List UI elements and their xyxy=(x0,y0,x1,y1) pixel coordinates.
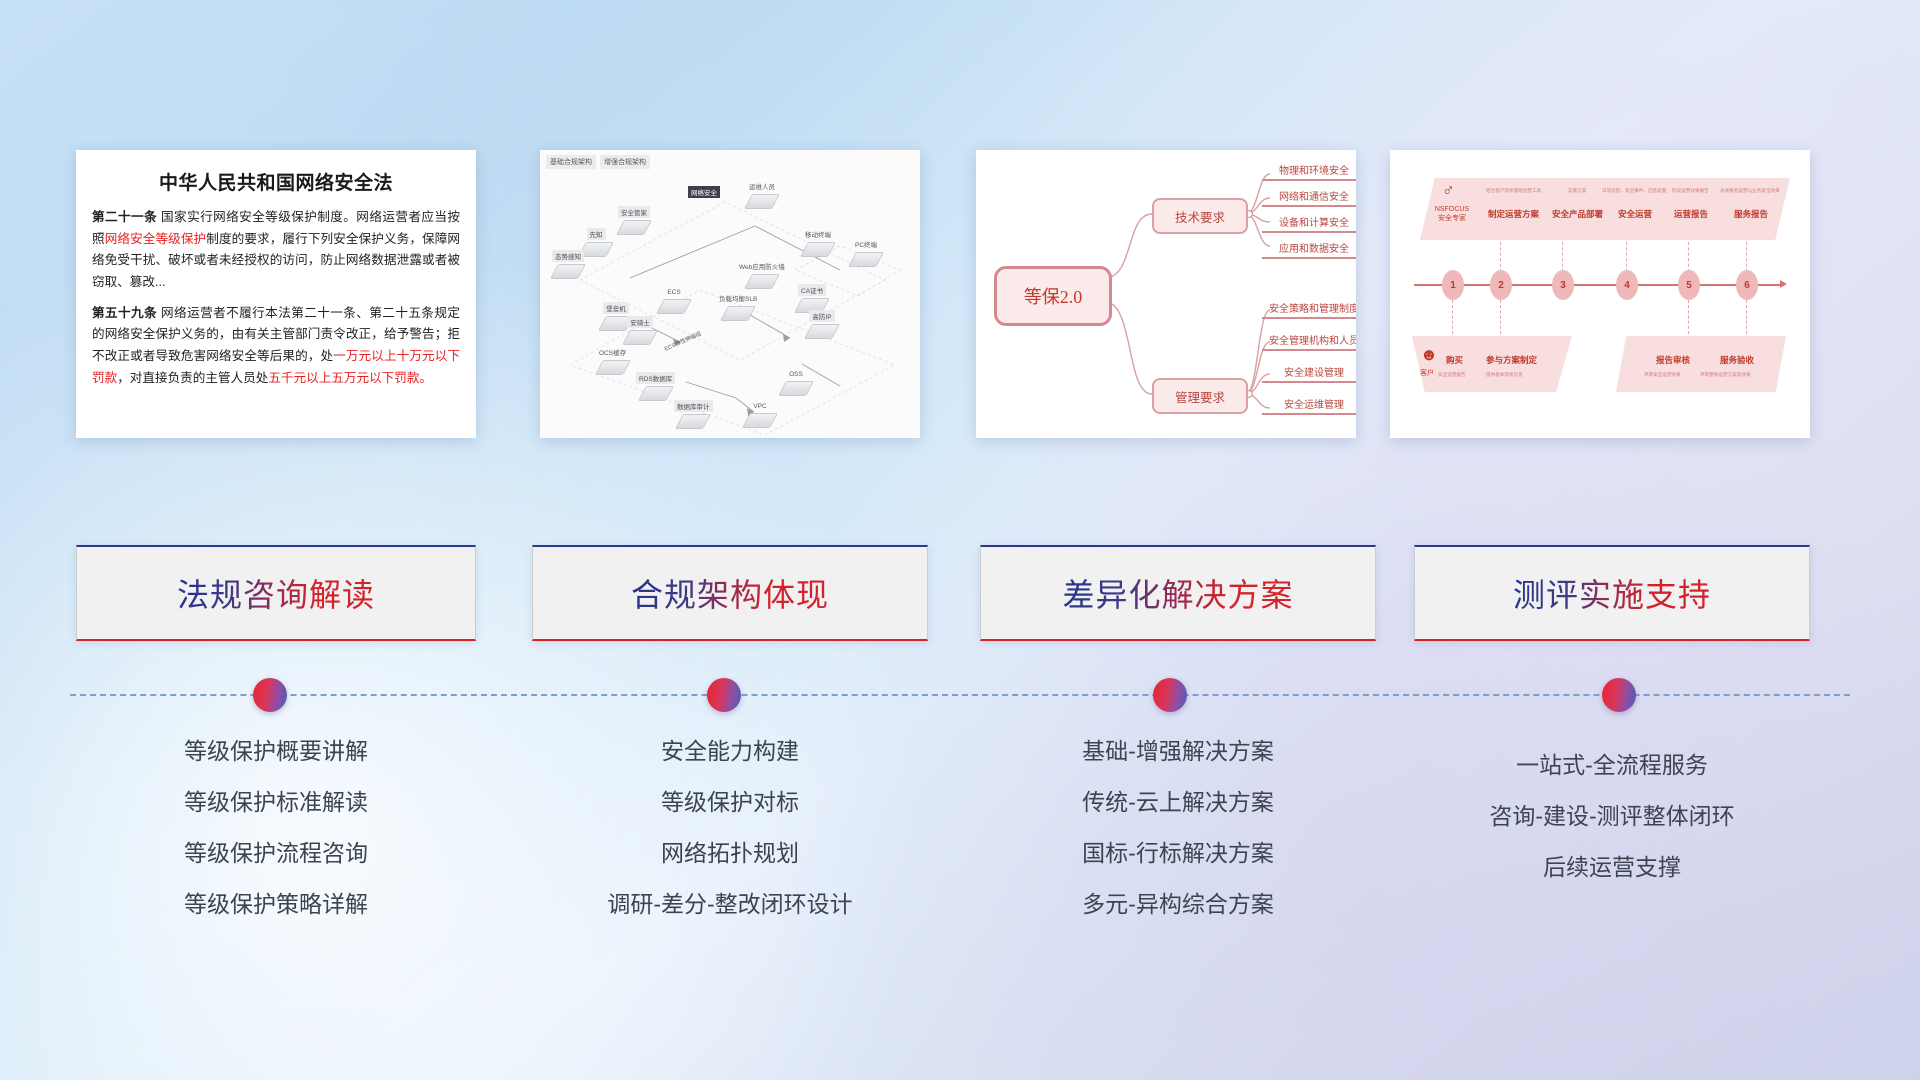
customer-action-3-label: 报告审核 xyxy=(1656,354,1690,366)
tab-assessment-support[interactable]: 测评实施支持 xyxy=(1414,545,1810,641)
dengbao-mindmap: 等保2.0 技术要求 管理要求 物理和环境安全 网络和通信安全 设备和计算安全 … xyxy=(976,150,1356,438)
node-label: 移动终端 xyxy=(802,228,834,240)
customer-action-2-label: 参与方案制定 xyxy=(1486,354,1537,366)
tab-label: 法规咨询解读 xyxy=(177,570,375,616)
connector-c3 xyxy=(1688,300,1689,334)
list-item: 国标-行标解决方案 xyxy=(980,842,1376,865)
node-label: OSS xyxy=(786,370,806,379)
node-label: 运维人员 xyxy=(746,180,778,192)
step-3-label: 安全产品部署 xyxy=(1552,208,1603,220)
mindmap-leaf-policy: 安全策略和管理制度 xyxy=(1262,300,1356,319)
customer-action-1-sub: 安全运营报告 xyxy=(1438,372,1466,378)
list-item: 等级保护对标 xyxy=(532,791,928,814)
step-dot-6: 6 xyxy=(1736,270,1758,300)
agent-icon xyxy=(622,330,658,345)
node-oss: OSS xyxy=(782,370,810,396)
mindmap-leaf-network: 网络和通信安全 xyxy=(1262,188,1356,207)
mindmap-leaf-physical: 物理和环境安全 xyxy=(1262,162,1356,181)
connector-6 xyxy=(1746,242,1747,272)
customer-band-right xyxy=(1616,336,1786,392)
tab-compliance-architecture[interactable]: 合规架构体现 xyxy=(532,545,928,641)
step-dot-2: 2 xyxy=(1490,270,1512,300)
tab-differentiated-solution[interactable]: 差异化解决方案 xyxy=(980,545,1376,641)
step-5-sub: 阶段运营效果报告 xyxy=(1672,188,1709,194)
connector-3 xyxy=(1562,242,1563,272)
node-label: 高防IP xyxy=(809,310,834,322)
node-label: PC终端 xyxy=(852,238,880,250)
node-ecs-scaling-group: ECS弹性伸缩组 xyxy=(660,336,705,348)
database-icon xyxy=(638,386,674,401)
connector-5 xyxy=(1688,242,1689,272)
tab-label: 差异化解决方案 xyxy=(1062,570,1293,616)
expert-role-label: NSFOCUS 安全专家 xyxy=(1424,206,1480,224)
expert-role-line1: NSFOCUS xyxy=(1435,206,1469,213)
mindmap-leaf-device: 设备和计算安全 xyxy=(1262,214,1356,233)
storage-icon xyxy=(778,381,814,396)
mobile-icon xyxy=(800,242,836,257)
node-security-butler: 安全管家 xyxy=(618,206,650,235)
service-timeline-diagram: ♂ NSFOCUS 安全专家 结合客户现状落地运营工具 制定运营方案 实施方案 … xyxy=(1390,150,1810,438)
timeline-dot-1[interactable] xyxy=(253,678,287,712)
loadbalancer-icon xyxy=(720,306,756,321)
mindmap-branch-management: 管理要求 xyxy=(1152,378,1248,414)
milestone-timeline xyxy=(0,660,1920,730)
column-differentiated-solution: 基础-增强解决方案 传统-云上解决方案 国标-行标解决方案 多元-异构综合方案 xyxy=(980,740,1376,944)
node-label: 安全管家 xyxy=(618,206,650,218)
timeline-axis xyxy=(1414,284,1782,286)
customer-action-2-sub: 提供基本现状信息 xyxy=(1486,372,1523,378)
mindmap-root: 等保2.0 xyxy=(994,266,1112,326)
list-item: 调研-差分-整改闭环设计 xyxy=(532,893,928,916)
node-xianzhi: 先知 xyxy=(582,228,610,257)
node-label: VPC xyxy=(750,402,769,411)
law-title: 中华人民共和国网络安全法 xyxy=(92,168,460,195)
mindmap-leaf-organization: 安全管理机构和人员 xyxy=(1262,332,1356,351)
node-aegis: 安骑士 xyxy=(626,316,654,345)
cloud-architecture-diagram: 基础合规架构 增强合规架构 xyxy=(540,150,920,438)
list-item: 传统-云上解决方案 xyxy=(980,791,1376,814)
customer-action-1-label: 购买 xyxy=(1446,354,1463,366)
node-label: 负载均衡SLB xyxy=(716,292,760,304)
article-text-highlight-1: 网络安全等级保护 xyxy=(105,232,207,246)
customer-action-3-sub: 评审安全运营效果 xyxy=(1644,372,1681,378)
list-item: 等级保护概要讲解 xyxy=(76,740,476,763)
step-dot-1: 1 xyxy=(1442,270,1464,300)
thumbnail-row: 中华人民共和国网络安全法 第二十一条 国家实行网络安全等级保护制度。网络运营者应… xyxy=(0,150,1920,442)
mindmap-branch-technical: 技术要求 xyxy=(1152,198,1248,234)
tab-label: 测评实施支持 xyxy=(1513,570,1711,616)
article-text-plain-4: ，对直接负责的主管人员处 xyxy=(117,371,268,385)
node-label: 先知 xyxy=(587,228,606,240)
desktop-icon xyxy=(848,252,884,267)
list-item: 一站式-全流程服务 xyxy=(1414,754,1810,777)
column-compliance-architecture: 安全能力构建 等级保护对标 网络拓扑规划 调研-差分-整改闭环设计 xyxy=(532,740,928,944)
timeline-arrow-icon xyxy=(1780,280,1787,288)
node-ops-staff: 运维人员 xyxy=(746,180,778,209)
node-label: 堡垒机 xyxy=(603,302,629,314)
expert-role-line2: 安全专家 xyxy=(1438,215,1466,222)
step-4-label: 安全运营 xyxy=(1618,208,1652,220)
node-pc-terminal: PC终端 xyxy=(852,238,880,267)
list-item: 安全能力构建 xyxy=(532,740,928,763)
node-ocs-cache: OCS缓存 xyxy=(596,346,629,375)
node-label: 数据库审计 xyxy=(674,400,713,412)
list-item: 后续运营支撑 xyxy=(1414,856,1810,879)
list-item: 基础-增强解决方案 xyxy=(980,740,1376,763)
timeline-dot-4[interactable] xyxy=(1602,678,1636,712)
tab-label: 合规架构体现 xyxy=(631,570,829,616)
mindmap-leaf-construction: 安全建设管理 xyxy=(1262,364,1356,383)
list-item: 网络拓扑规划 xyxy=(532,842,928,865)
customer-action-4-label: 服务验收 xyxy=(1720,354,1754,366)
timeline-dot-3[interactable] xyxy=(1153,678,1187,712)
customer-role-label: 客户 xyxy=(1414,370,1440,379)
server-icon xyxy=(656,299,692,314)
step-6-label: 服务报告 xyxy=(1734,208,1768,220)
law-article-21: 第二十一条 国家实行网络安全等级保护制度。网络运营者应当按照网络安全等级保护制度… xyxy=(92,207,460,294)
detail-columns: 等级保护概要讲解 等级保护标准解读 等级保护流程咨询 等级保护策略详解 安全能力… xyxy=(0,740,1920,960)
list-item: 等级保护流程咨询 xyxy=(76,842,476,865)
server-icon xyxy=(550,264,586,279)
node-label: 网络安全 xyxy=(688,186,720,198)
list-item: 多元-异构综合方案 xyxy=(980,893,1376,916)
audit-icon xyxy=(675,414,711,429)
list-item: 等级保护标准解读 xyxy=(76,791,476,814)
article-number: 第五十九条 xyxy=(92,306,157,320)
timeline-dot-2[interactable] xyxy=(707,678,741,712)
connector-c2 xyxy=(1500,300,1501,334)
connector-2 xyxy=(1500,242,1501,272)
step-6-sub: 总体服务运营与业务安全效果 xyxy=(1720,188,1780,194)
node-vpc: VPC xyxy=(746,402,774,428)
node-label: 态势感知 xyxy=(552,250,584,262)
slide-canvas: 中华人民共和国网络安全法 第二十一条 国家实行网络安全等级保护制度。网络运营者应… xyxy=(0,0,1920,1080)
column-assessment-support: 一站式-全流程服务 咨询-建设-测评整体闭环 后续运营支撑 xyxy=(1414,754,1810,907)
column-regulation-consulting: 等级保护概要讲解 等级保护标准解读 等级保护流程咨询 等级保护策略详解 xyxy=(76,740,476,944)
law-article-59: 第五十九条 网络运营者不履行本法第二十一条、第二十五条规定的网络安全保护义务的，… xyxy=(92,303,460,390)
node-label: ECS xyxy=(664,288,683,297)
connector-c1 xyxy=(1452,300,1453,334)
customer-person-icon: ☻ xyxy=(1420,346,1438,363)
article-text-highlight-3: 五千元以上五万元以下罚款。 xyxy=(268,371,432,385)
node-label: CA证书 xyxy=(798,284,826,296)
thumbnail-cloud-architecture[interactable]: 基础合规架构 增强合规架构 xyxy=(540,150,920,438)
node-slb: 负载均衡SLB xyxy=(716,292,760,321)
mindmap-leaf-application: 应用和数据安全 xyxy=(1262,240,1356,259)
customer-action-4-sub: 评审整体运营方案及效果 xyxy=(1700,372,1751,378)
thumbnail-dengbao-mindmap[interactable]: 等保2.0 技术要求 管理要求 物理和环境安全 网络和通信安全 设备和计算安全 … xyxy=(976,150,1356,438)
step-4-sub: 日常巡检、安全事件、应急处置 xyxy=(1602,188,1666,194)
node-network-security: 网络安全 xyxy=(688,186,720,200)
node-label: RDS数据库 xyxy=(636,372,675,384)
step-dot-5: 5 xyxy=(1678,270,1700,300)
node-label: Web应用防火墙 xyxy=(736,260,788,272)
node-rds-database: RDS数据库 xyxy=(636,372,675,401)
list-item: 等级保护策略详解 xyxy=(76,893,476,916)
step-dot-3: 3 xyxy=(1552,270,1574,300)
category-tabs-row: 法规咨询解读 合规架构体现 差异化解决方案 测评实施支持 xyxy=(0,545,1920,641)
expert-person-icon: ♂ xyxy=(1442,182,1455,199)
node-ecs: ECS xyxy=(660,288,688,314)
law-document: 中华人民共和国网络安全法 第二十一条 国家实行网络安全等级保护制度。网络运营者应… xyxy=(76,150,476,438)
shield-icon xyxy=(804,324,840,339)
node-ca-certificate: CA证书 xyxy=(798,284,826,313)
step-2-label: 制定运营方案 xyxy=(1488,208,1539,220)
monitor-icon xyxy=(744,194,780,209)
node-waf: Web应用防火墙 xyxy=(736,260,788,289)
step-5-label: 运营报告 xyxy=(1674,208,1708,220)
thumbnail-cybersecurity-law[interactable]: 中华人民共和国网络安全法 第二十一条 国家实行网络安全等级保护制度。网络运营者应… xyxy=(76,150,476,438)
node-anti-ddos-ip: 高防IP xyxy=(808,310,836,339)
list-item: 咨询-建设-测评整体闭环 xyxy=(1414,805,1810,828)
step-3-sub: 实施方案 xyxy=(1568,188,1586,194)
mindmap-leaf-operations: 安全运维管理 xyxy=(1262,396,1356,415)
step-2-sub: 结合客户现状落地运营工具 xyxy=(1486,188,1541,194)
article-number: 第二十一条 xyxy=(92,210,157,224)
node-label: OCS缓存 xyxy=(596,346,629,358)
timeline-dashed-line xyxy=(70,694,1850,696)
connector-c4 xyxy=(1746,300,1747,334)
node-situational-awareness: 态势感知 xyxy=(552,250,584,279)
connector-4 xyxy=(1626,242,1627,272)
step-dot-4: 4 xyxy=(1616,270,1638,300)
cache-icon xyxy=(595,360,631,375)
thumbnail-service-timeline[interactable]: ♂ NSFOCUS 安全专家 结合客户现状落地运营工具 制定运营方案 实施方案 … xyxy=(1390,150,1810,438)
tab-regulation-consulting[interactable]: 法规咨询解读 xyxy=(76,545,476,641)
firewall-icon xyxy=(744,274,780,289)
node-db-audit: 数据库审计 xyxy=(674,400,713,429)
network-icon xyxy=(742,413,778,428)
node-label: 安骑士 xyxy=(627,316,653,328)
server-icon xyxy=(616,220,652,235)
node-mobile-terminal: 移动终端 xyxy=(802,228,834,257)
